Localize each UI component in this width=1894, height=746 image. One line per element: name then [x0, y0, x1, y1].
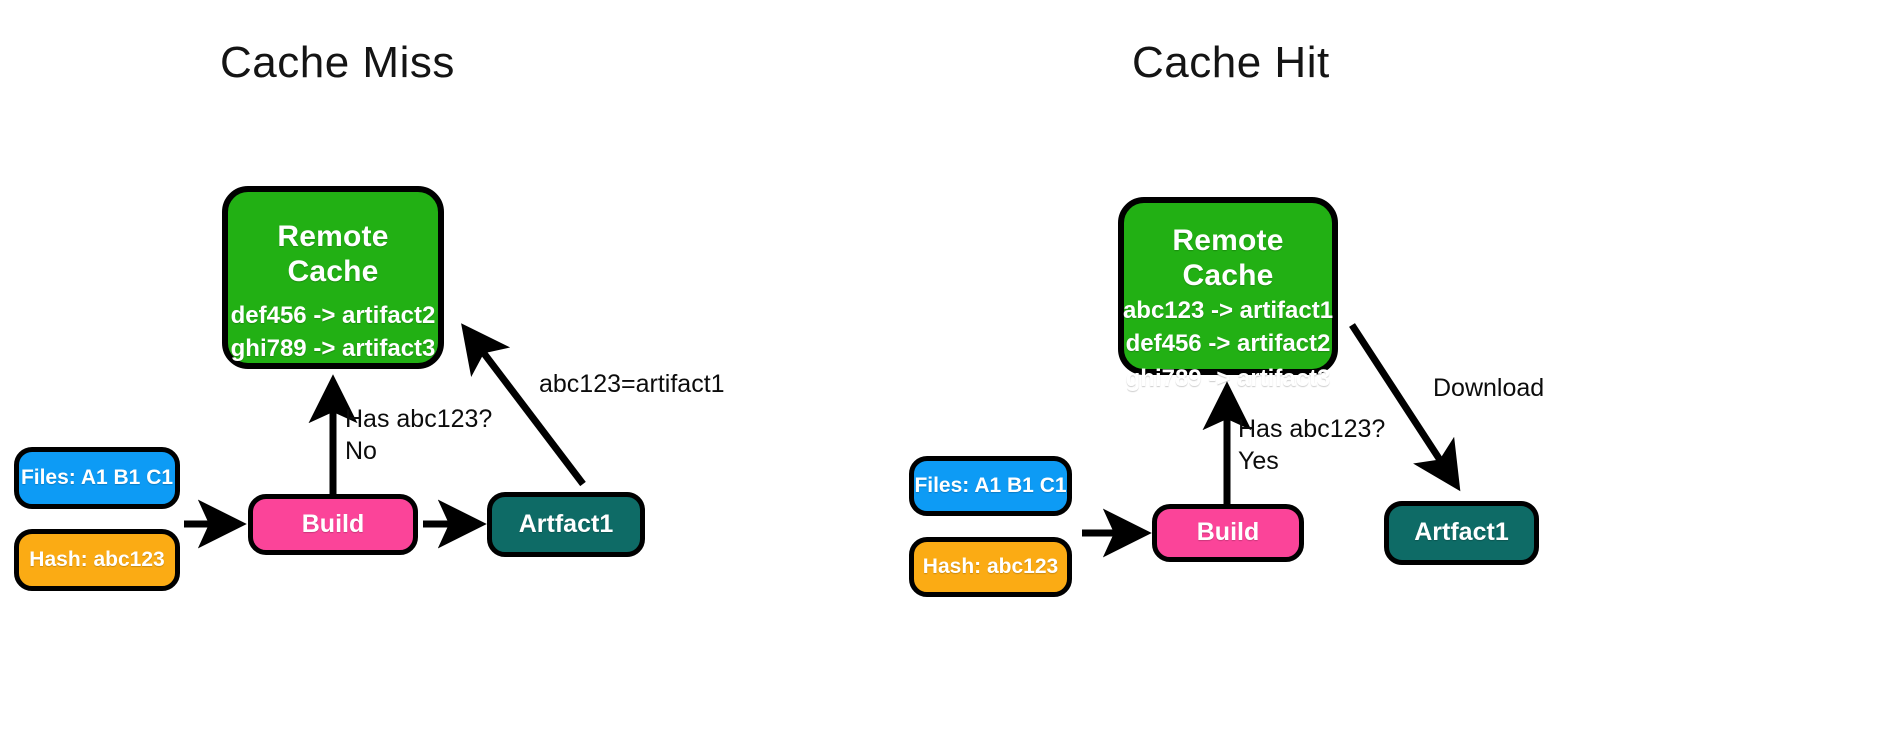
- artifact-box-hit: Artfact1: [1384, 501, 1539, 565]
- build-box-hit: Build: [1152, 504, 1304, 562]
- cache-entry: def456 -> artifact2: [1126, 330, 1331, 358]
- diagram-canvas: Cache Miss Remote Cache def456 -> artifa…: [0, 0, 1894, 746]
- build-box-miss: Build: [248, 494, 418, 555]
- hash-box-hit: Hash: abc123: [909, 537, 1072, 597]
- edge-label-build-to-cache-miss: Has abc123? No: [345, 403, 492, 467]
- build-box-label: Build: [302, 510, 365, 540]
- hash-box-label: Hash: abc123: [29, 548, 164, 573]
- remote-cache-box-hit: Remote Cache abc123 -> artifact1 def456 …: [1118, 197, 1338, 375]
- remote-cache-title-miss: Remote Cache: [228, 219, 438, 290]
- panel-title-cache-hit: Cache Hit: [1132, 38, 1330, 88]
- files-box-miss: Files: A1 B1 C1: [14, 447, 180, 509]
- remote-cache-title-hit: Remote Cache: [1124, 223, 1332, 294]
- files-box-label: Files: A1 B1 C1: [21, 466, 173, 491]
- cache-entry: ghi789 -> artifact3: [1126, 365, 1331, 393]
- remote-cache-box-miss: Remote Cache def456 -> artifact2 ghi789 …: [222, 186, 444, 369]
- edge-label-cache-to-artifact-hit: Download: [1433, 372, 1544, 404]
- panel-title-cache-miss: Cache Miss: [220, 38, 455, 88]
- build-box-label: Build: [1197, 518, 1260, 548]
- edge-label-artifact-to-cache-miss: abc123=artifact1: [539, 368, 725, 400]
- artifact-box-miss: Artfact1: [487, 492, 645, 557]
- files-box-hit: Files: A1 B1 C1: [909, 456, 1072, 516]
- cache-entry: def456 -> artifact2: [231, 302, 436, 330]
- hash-box-miss: Hash: abc123: [14, 529, 180, 591]
- arrow-layer: [0, 0, 1894, 746]
- cache-entry: ghi789 -> artifact3: [231, 335, 436, 363]
- artifact-box-label: Artfact1: [1414, 518, 1508, 548]
- hash-box-label: Hash: abc123: [923, 555, 1058, 580]
- files-box-label: Files: A1 B1 C1: [914, 474, 1066, 499]
- cache-entry: abc123 -> artifact1: [1123, 297, 1333, 325]
- edge-label-build-to-cache-hit: Has abc123? Yes: [1238, 413, 1385, 477]
- artifact-box-label: Artfact1: [519, 510, 613, 540]
